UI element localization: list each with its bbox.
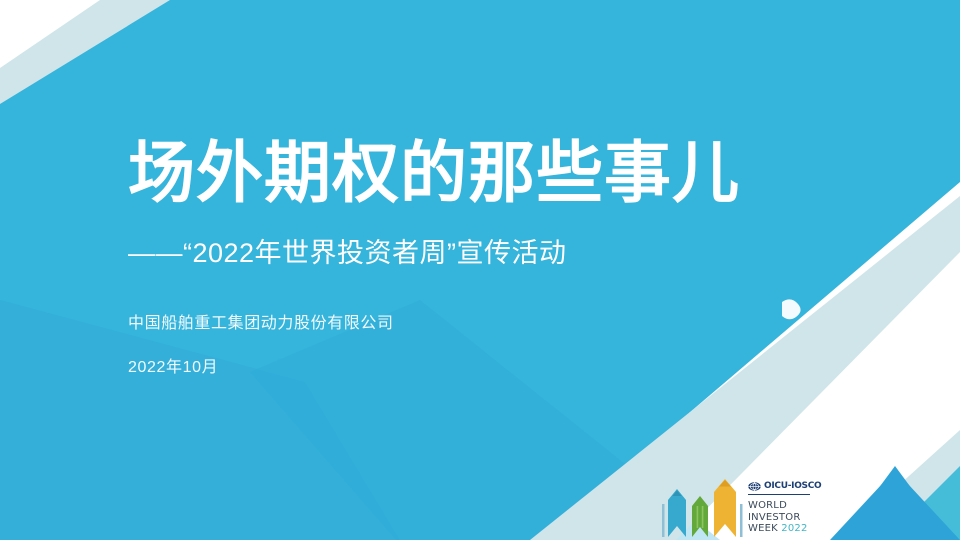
world-investor-week-logo: OICU-IOSCO WORLD INVESTOR WEEK 2022 — [662, 478, 824, 538]
globe-icon — [748, 482, 761, 491]
wiw-line-week-year: WEEK 2022 — [748, 523, 824, 535]
logo-tick-left — [662, 504, 665, 537]
pencil-yellow-tip-line — [719, 480, 731, 487]
pencil-blue-icon — [668, 489, 686, 537]
slide-date: 2022年10月 — [128, 357, 848, 379]
logo-text-block: OICU-IOSCO WORLD INVESTOR WEEK 2022 — [748, 480, 824, 538]
iosco-wordmark: OICU-IOSCO — [764, 482, 821, 491]
slide-title: 场外期权的那些事儿 — [128, 138, 848, 210]
iosco-row: OICU-IOSCO — [748, 480, 824, 493]
wiw-line-investor: INVESTOR — [748, 512, 824, 524]
slide-subtitle: ——“2022年世界投资者周”宣传活动 — [128, 210, 848, 271]
presentation-slide: 场外期权的那些事儿 ——“2022年世界投资者周”宣传活动 中国船舶重工集团动力… — [0, 0, 960, 540]
organization-name: 中国船舶重工集团动力股份有限公司 — [128, 313, 848, 335]
logo-pencil-marks — [662, 478, 744, 538]
wiw-wordmark: WORLD INVESTOR WEEK 2022 — [748, 500, 824, 535]
slide-text-block: 场外期权的那些事儿 ——“2022年世界投资者周”宣传活动 中国船舶重工集团动力… — [128, 138, 848, 379]
pencil-green-icon — [692, 496, 708, 537]
wiw-year-label: 2022 — [781, 523, 807, 534]
pencil-yellow-icon — [714, 479, 736, 537]
slide-meta-list: 中国船舶重工集团动力股份有限公司 2022年10月 — [128, 271, 848, 378]
iosco-divider — [748, 494, 810, 495]
logo-tick-right — [740, 504, 743, 537]
pencil-green-stripe-2 — [702, 506, 704, 528]
wiw-line-world: WORLD — [748, 500, 824, 512]
pencil-green-stripe-1 — [697, 506, 699, 528]
wiw-week-label: WEEK — [748, 523, 778, 534]
